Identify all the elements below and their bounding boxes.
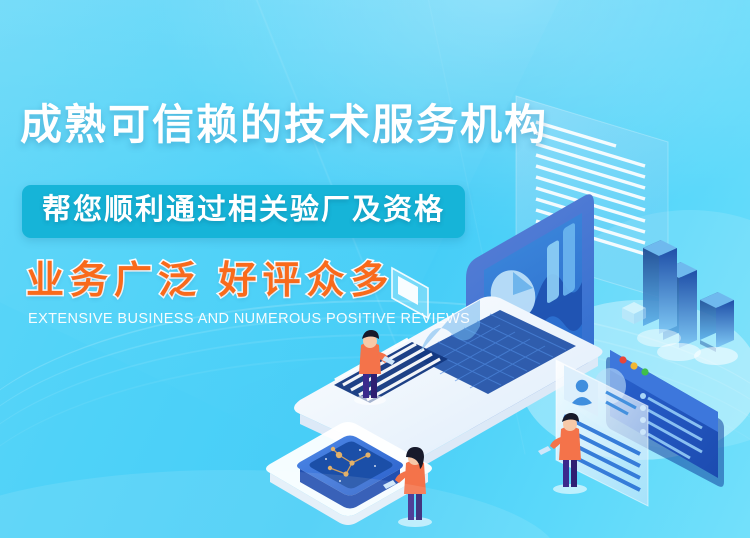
person-center bbox=[538, 413, 587, 494]
bg-blob-far bbox=[520, 300, 750, 460]
subtitle-badge-label: 帮您顺利通过相关验厂及资格 bbox=[42, 196, 445, 225]
traffic-light-green bbox=[641, 368, 648, 375]
bg-blob-right bbox=[540, 210, 750, 450]
bar-item bbox=[643, 240, 677, 334]
subtitle-badge: 帮您顺利通过相关验厂及资格 bbox=[22, 185, 465, 238]
network-platform bbox=[266, 422, 432, 525]
bar-item bbox=[700, 292, 734, 352]
bar-chart bbox=[637, 240, 738, 365]
browser-window bbox=[594, 350, 724, 487]
bg-wave-3 bbox=[0, 334, 750, 538]
person-right bbox=[383, 447, 432, 527]
floating-cubes bbox=[622, 302, 646, 324]
id-card bbox=[556, 360, 648, 506]
bg-wave-4 bbox=[0, 356, 750, 538]
bar-item bbox=[663, 262, 697, 348]
slogan-cn: 业务广泛 好评众多 bbox=[26, 262, 395, 300]
page-title: 成熟可信赖的技术服务机构 bbox=[20, 104, 548, 146]
person-left bbox=[354, 330, 395, 405]
promo-banner: 成熟可信赖的技术服务机构 帮您顺利通过相关验厂及资格 业务广泛 好评众多 EXT… bbox=[0, 0, 750, 538]
avatar-icon bbox=[572, 380, 592, 406]
traffic-light-yellow bbox=[630, 362, 637, 369]
bg-wave-2 bbox=[0, 316, 750, 538]
bg-wave-1 bbox=[0, 300, 750, 538]
bg-glow-bottom bbox=[0, 470, 560, 538]
traffic-light-red bbox=[619, 356, 626, 363]
slogan-en: EXTENSIVE BUSINESS AND NUMEROUS POSITIVE… bbox=[28, 312, 470, 327]
